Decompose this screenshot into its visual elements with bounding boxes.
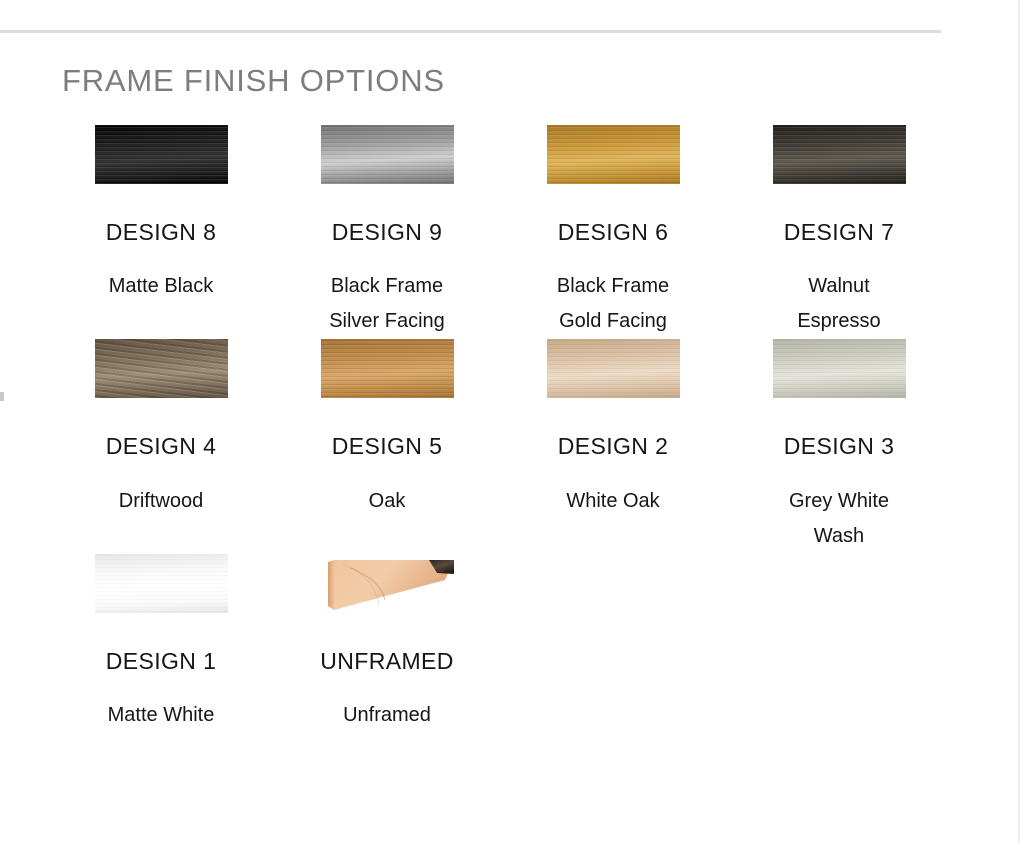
design-label: DESIGN 4 <box>106 433 217 459</box>
desc-line-1: Oak <box>369 484 406 519</box>
top-divider <box>0 30 941 33</box>
finish-row: DESIGN 4 Driftwood DESIGN 5 Oak DESIGN 2… <box>0 339 1024 553</box>
desc-line-1: Matte White <box>108 698 215 733</box>
swatch-white-oak[interactable] <box>547 339 680 398</box>
finish-option-matte-white[interactable]: DESIGN 1 Matte White <box>48 554 274 733</box>
swatch-matte-white[interactable] <box>95 554 228 613</box>
desc-line-1: Walnut <box>797 269 880 304</box>
finish-description: Black Frame Silver Facing <box>329 269 445 339</box>
design-label: DESIGN 8 <box>106 219 217 245</box>
swatch-grey-white-wash[interactable] <box>773 339 906 398</box>
swatch-wrap <box>773 125 906 197</box>
swatch-wrap <box>321 125 454 197</box>
desc-line-1: Grey White <box>789 484 889 519</box>
desc-line-2: Wash <box>789 519 889 554</box>
finish-option-unframed[interactable]: UNFRAMED Unframed <box>274 554 500 733</box>
swatch-unframed[interactable] <box>321 554 454 613</box>
swatch-wrap <box>95 554 228 626</box>
finish-option-matte-black[interactable]: DESIGN 8 Matte Black <box>48 125 274 304</box>
swatch-black-frame-gold-facing[interactable] <box>547 125 680 184</box>
finish-option-grey-white-wash[interactable]: DESIGN 3 Grey White Wash <box>726 339 952 553</box>
swatch-walnut-espresso[interactable] <box>773 125 906 184</box>
swatch-matte-black[interactable] <box>95 125 228 184</box>
design-label: DESIGN 7 <box>784 219 895 245</box>
swatch-oak[interactable] <box>321 339 454 398</box>
design-label: DESIGN 2 <box>558 433 669 459</box>
finish-description: White Oak <box>566 484 659 519</box>
finish-row: DESIGN 1 Matte White <box>0 554 1024 733</box>
design-label: DESIGN 1 <box>106 648 217 674</box>
swatch-wrap <box>773 339 906 411</box>
finish-description: Grey White Wash <box>789 484 889 554</box>
desc-line-1: Matte Black <box>109 269 213 304</box>
finish-option-walnut-espresso[interactable]: DESIGN 7 Walnut Espresso <box>726 125 952 339</box>
desc-line-1: Driftwood <box>119 484 203 519</box>
swatch-black-frame-silver-facing[interactable] <box>321 125 454 184</box>
finish-description: Black Frame Gold Facing <box>557 269 669 339</box>
desc-line-1: Unframed <box>343 698 431 733</box>
design-label: DESIGN 3 <box>784 433 895 459</box>
finish-option-driftwood[interactable]: DESIGN 4 Driftwood <box>48 339 274 518</box>
swatch-driftwood[interactable] <box>95 339 228 398</box>
frame-finish-grid: DESIGN 8 Matte Black DESIGN 9 Black Fram… <box>0 125 1024 733</box>
swatch-wrap <box>321 339 454 411</box>
desc-line-2: Silver Facing <box>329 304 445 339</box>
finish-description: Walnut Espresso <box>797 269 880 339</box>
finish-option-black-frame-silver-facing[interactable]: DESIGN 9 Black Frame Silver Facing <box>274 125 500 339</box>
desc-line-1: White Oak <box>566 484 659 519</box>
finish-description: Oak <box>369 484 406 519</box>
finish-description: Matte Black <box>109 269 213 304</box>
page-title: FRAME FINISH OPTIONS <box>62 63 445 99</box>
design-label: UNFRAMED <box>320 648 454 674</box>
finish-option-black-frame-gold-facing[interactable]: DESIGN 6 Black Frame Gold Facing <box>500 125 726 339</box>
unframed-canvas-edge-icon <box>321 554 454 616</box>
finish-description: Unframed <box>343 698 431 733</box>
finish-description: Matte White <box>108 698 215 733</box>
finish-row: DESIGN 8 Matte Black DESIGN 9 Black Fram… <box>0 125 1024 339</box>
finish-description: Driftwood <box>119 484 203 519</box>
finish-option-white-oak[interactable]: DESIGN 2 White Oak <box>500 339 726 518</box>
swatch-wrap <box>95 125 228 197</box>
swatch-wrap <box>547 339 680 411</box>
swatch-wrap <box>321 554 454 626</box>
desc-line-2: Espresso <box>797 304 880 339</box>
design-label: DESIGN 6 <box>558 219 669 245</box>
desc-line-2: Gold Facing <box>557 304 669 339</box>
desc-line-1: Black Frame <box>557 269 669 304</box>
design-label: DESIGN 5 <box>332 433 443 459</box>
swatch-wrap <box>547 125 680 197</box>
finish-option-oak[interactable]: DESIGN 5 Oak <box>274 339 500 518</box>
swatch-wrap <box>95 339 228 411</box>
desc-line-1: Black Frame <box>329 269 445 304</box>
design-label: DESIGN 9 <box>332 219 443 245</box>
